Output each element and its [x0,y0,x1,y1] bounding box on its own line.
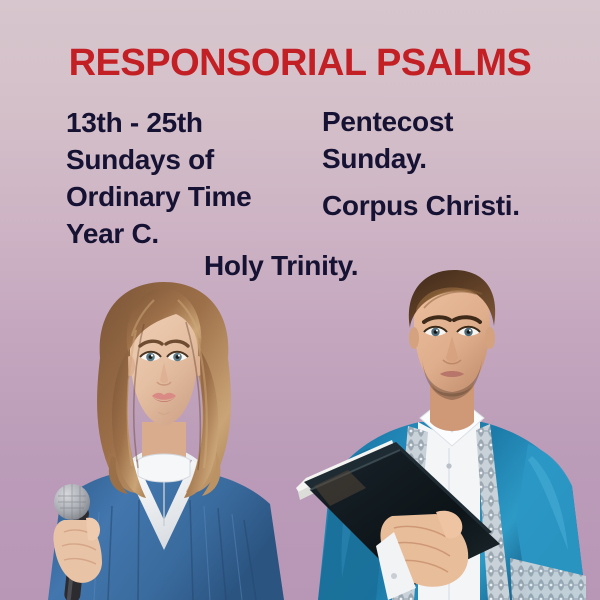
text-line-pentecost: Pentecost [322,104,520,141]
text-line-holy-trinity: Holy Trinity. [204,248,358,285]
man-choir-reader-figure [296,270,600,600]
text-block-feasts: Pentecost Sunday. Corpus Christi. [322,104,520,225]
text-block-ordinary-time: 13th - 25th Sundays of Ordinary Time Yea… [66,105,251,253]
woman-choir-singer-figure [8,270,318,600]
page-title: RESPONSORIAL PSALMS [0,44,600,84]
text-line-corpus-christi: Corpus Christi. [322,188,520,225]
text-block-holy-trinity: Holy Trinity. [204,248,358,285]
woman-illustration [8,270,318,600]
man-illustration [296,270,600,600]
text-line-sunday: Sunday. [322,141,520,178]
text-line-1: 13th - 25th [66,105,251,142]
text-line-3: Ordinary Time [66,179,251,216]
text-line-2: Sundays of [66,142,251,179]
woman-shirt-collar [138,454,190,482]
responsorial-psalms-poster: RESPONSORIAL PSALMS 13th - 25th Sundays … [0,0,600,600]
